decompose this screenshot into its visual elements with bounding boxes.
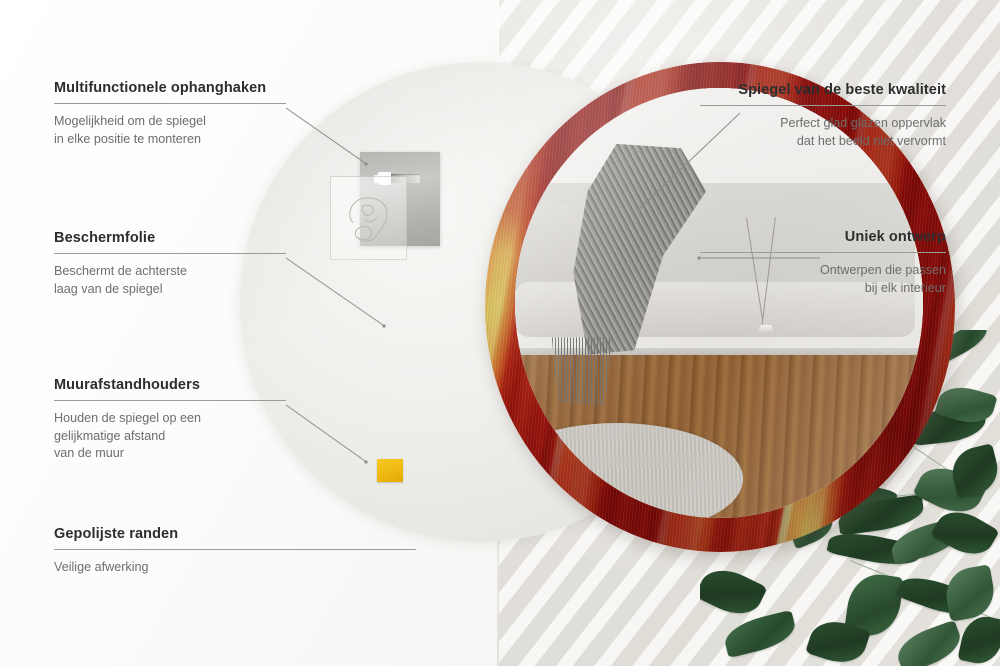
callout-rule <box>54 253 286 254</box>
callout-gepolijste-randen: Gepolijste randen Veilige afwerking <box>54 526 416 577</box>
callout-description: Beschermt de achterste laag van de spieg… <box>54 263 286 298</box>
callout-description: Perfect glad glazen oppervlak dat het be… <box>700 115 946 150</box>
callout-uniek-ontwerp: Uniek ontwerp Ontwerpen die passen bij e… <box>700 229 946 297</box>
callout-title: Multifunctionele ophanghaken <box>54 80 286 96</box>
callout-title: Gepolijste randen <box>54 526 416 542</box>
callout-muurafstandhouders: Muurafstandhouders Houden de spiegel op … <box>54 377 286 463</box>
callout-title: Beschermfolie <box>54 230 286 246</box>
callout-rule <box>54 400 286 401</box>
wall-spacer <box>377 459 403 482</box>
line-art-icon <box>337 183 400 253</box>
mirror-product <box>240 62 760 582</box>
glass-reflection-gloss <box>515 88 923 518</box>
callout-spiegel-van-de-beste-kwaliteit: Spiegel van de beste kwaliteit Perfect g… <box>700 82 946 150</box>
callout-beschermfolie: Beschermfolie Beschermt de achterste laa… <box>54 230 286 298</box>
callout-title: Uniek ontwerp <box>700 229 946 245</box>
wall-art-frame <box>330 176 407 260</box>
callout-description: Mogelijkheid om de spiegel in elke posit… <box>54 113 286 148</box>
callout-rule <box>700 252 946 253</box>
mirror-glass <box>515 88 923 518</box>
callout-title: Muurafstandhouders <box>54 377 286 393</box>
callout-rule <box>700 105 946 106</box>
callout-description: Veilige afwerking <box>54 559 416 577</box>
callout-rule <box>54 103 286 104</box>
callout-multifunctionele-ophanghaken: Multifunctionele ophanghaken Mogelijkhei… <box>54 80 286 148</box>
callout-description: Houden de spiegel op een gelijkmatige af… <box>54 410 286 463</box>
infographic-canvas: Multifunctionele ophanghaken Mogelijkhei… <box>0 0 1000 666</box>
callout-description: Ontwerpen die passen bij elk interieur <box>700 262 946 297</box>
callout-title: Spiegel van de beste kwaliteit <box>700 82 946 98</box>
callout-rule <box>54 549 416 550</box>
